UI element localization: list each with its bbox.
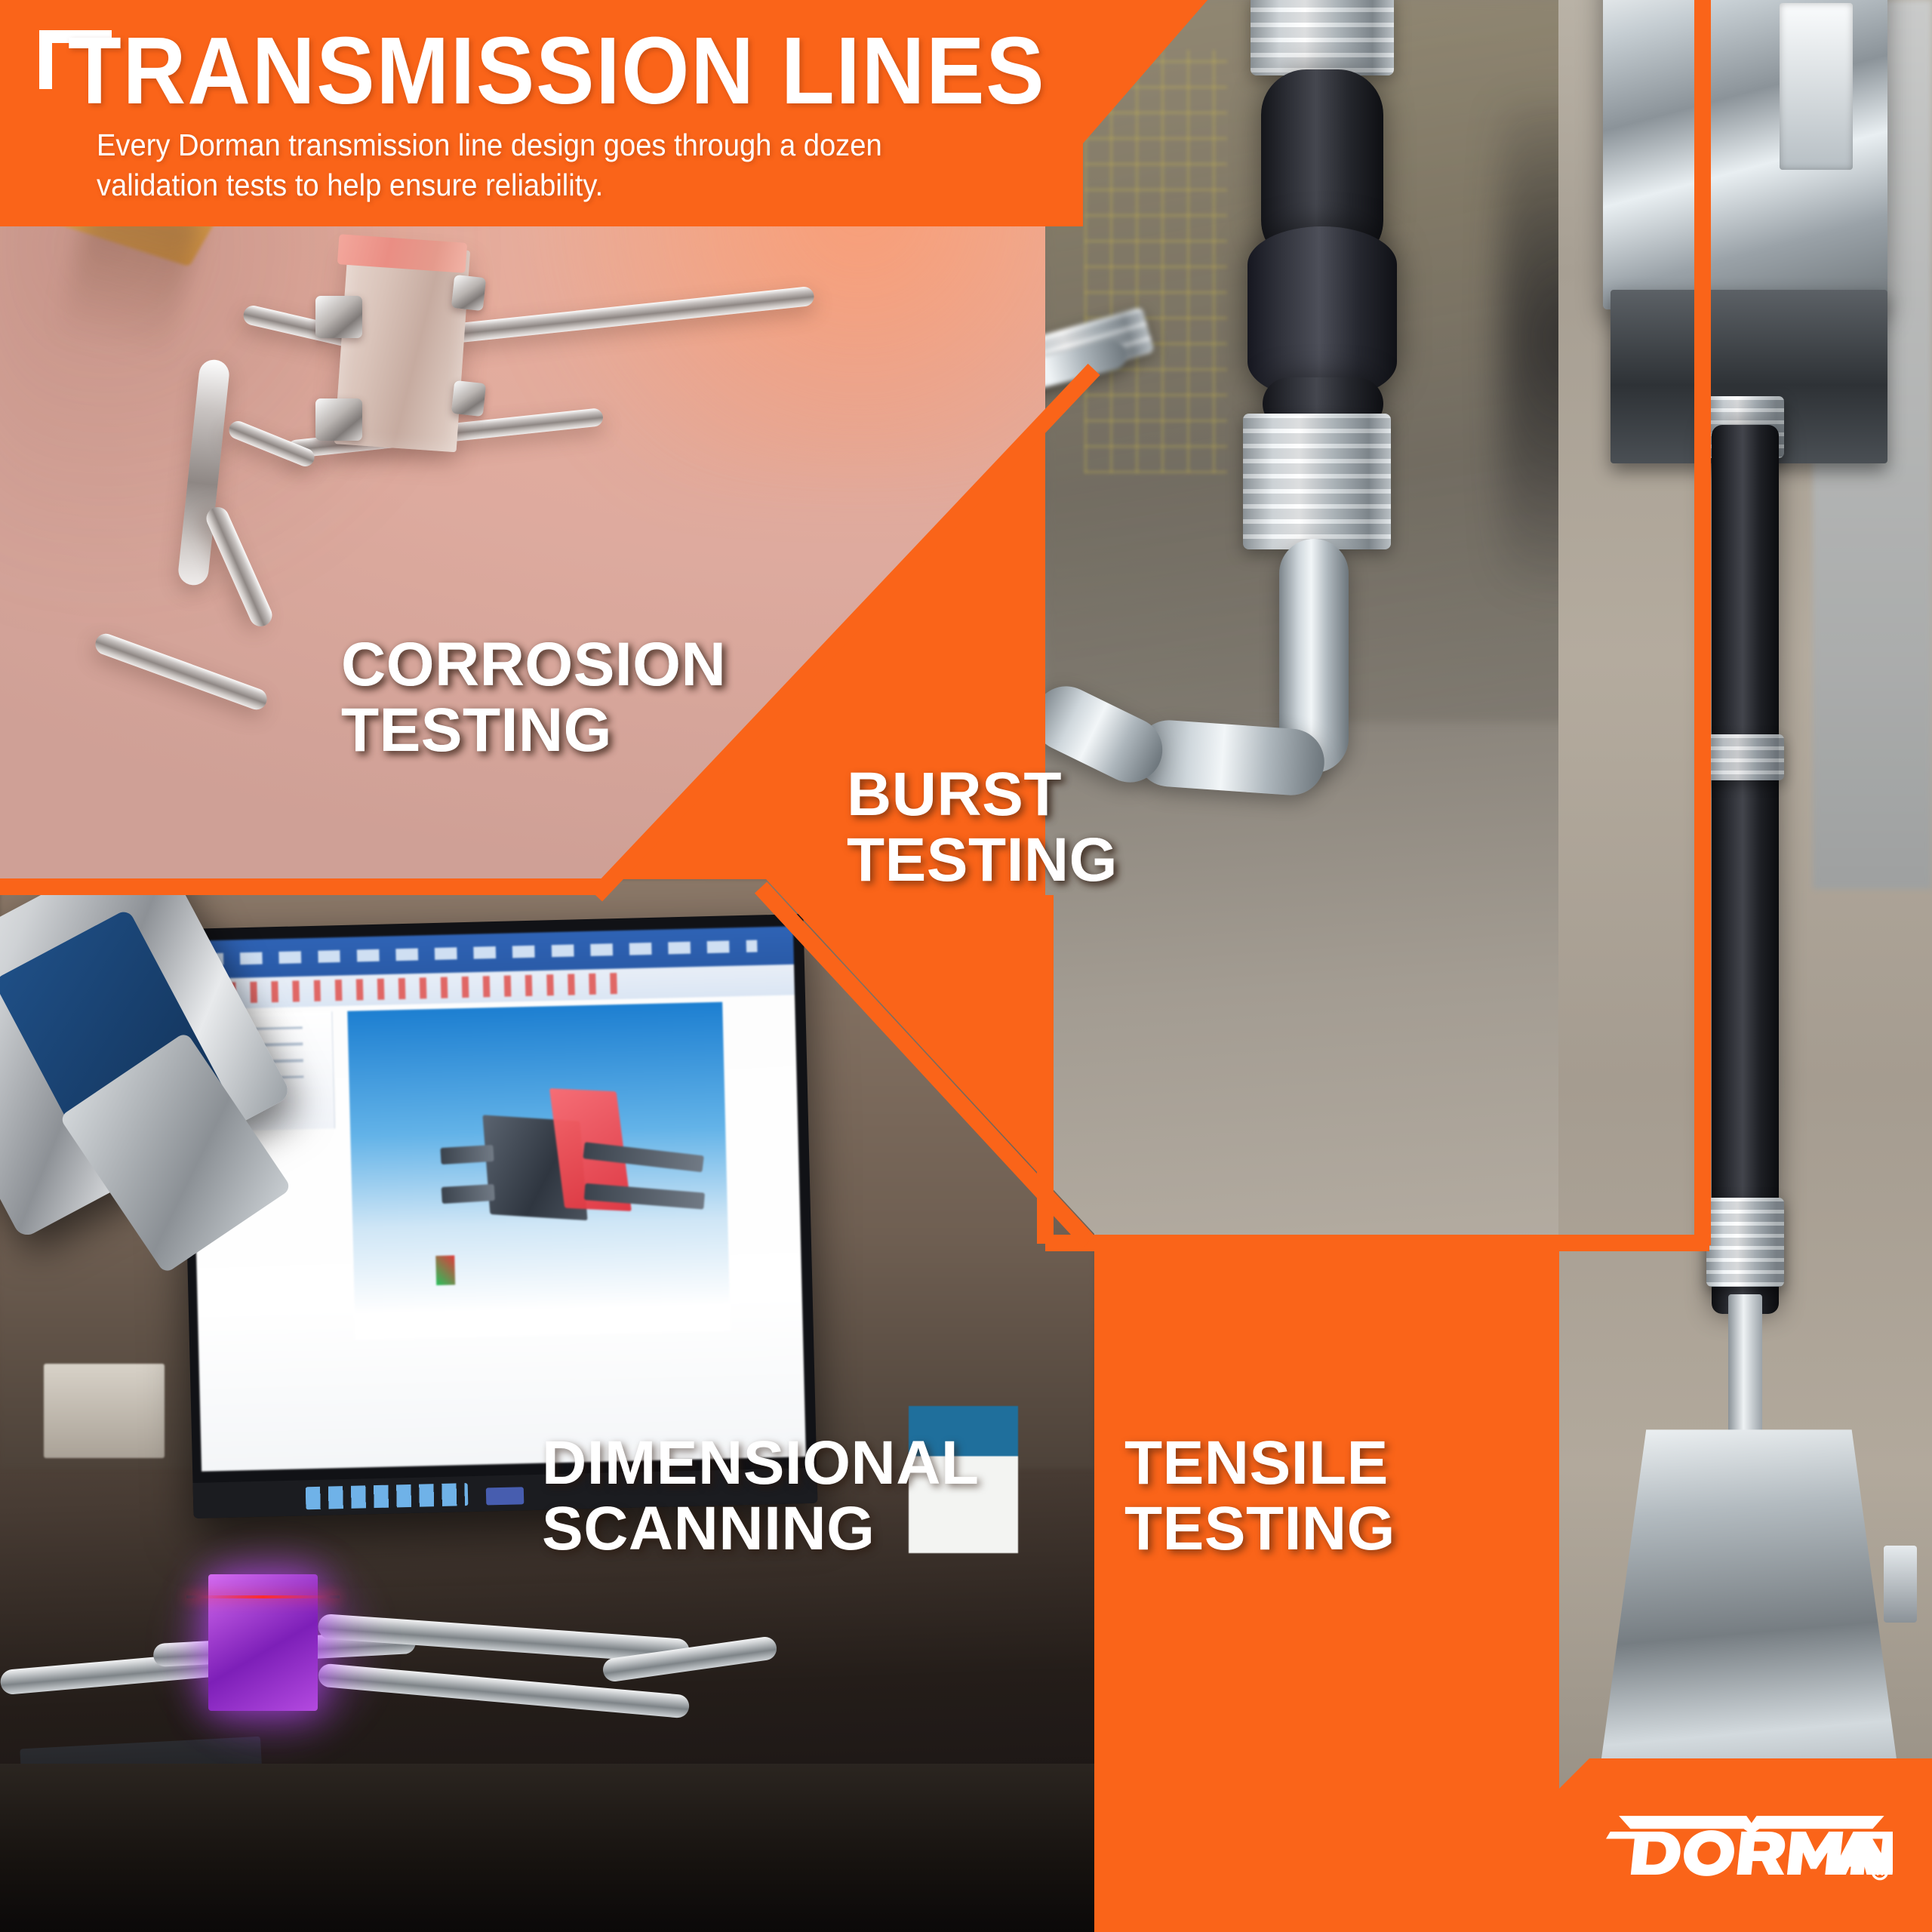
page-subtitle: Every Dorman transmission line design go… — [97, 125, 960, 206]
panel-label-burst-overlay-line2: TESTING — [847, 828, 1118, 894]
svg-text:R: R — [1876, 1867, 1883, 1878]
dorman-logo: R — [1606, 1810, 1893, 1882]
panel-label-corrosion-overlay-line1: CORROSION — [341, 632, 726, 698]
monitor — [179, 914, 817, 1518]
dimensional-scanning-photo — [0, 879, 1094, 1932]
panel-label-tensile-line2: TESTING — [1124, 1497, 1395, 1562]
panel-label-dimensional: DIMENSIONAL SCANNING — [542, 1431, 980, 1562]
panel-dimensional-scanning — [0, 879, 1094, 1932]
page-title: TRANSMISSION LINES — [68, 23, 1045, 120]
panel-label-corrosion-overlay: CORROSION TESTING — [341, 632, 726, 764]
brand-logo-badge: R — [1524, 1758, 1932, 1932]
panel-label-burst-overlay: BURST TESTING — [847, 762, 1118, 894]
panel-label-tensile-line1: TENSILE — [1124, 1431, 1395, 1497]
panel-tensile-testing — [1558, 0, 1932, 1932]
panel-label-dimensional-line1: DIMENSIONAL — [542, 1431, 980, 1497]
infographic-canvas: CORROSION TESTING BUR — [0, 0, 1932, 1932]
monitor-brand-logo — [486, 1487, 524, 1506]
panel-label-dimensional-line2: SCANNING — [542, 1497, 980, 1562]
divider-corrosion-bottom — [0, 878, 604, 895]
divider-vertical-right — [1694, 0, 1711, 1245]
tensile-photo — [1558, 0, 1932, 1932]
panel-label-burst-overlay-line1: BURST — [847, 762, 1118, 828]
panel-label-tensile: TENSILE TESTING — [1124, 1431, 1395, 1562]
panel-label-corrosion-overlay-line2: TESTING — [341, 698, 726, 764]
divider-burst-bottom — [1045, 1235, 1709, 1251]
header-banner: TRANSMISSION LINES Every Dorman transmis… — [0, 0, 1207, 226]
